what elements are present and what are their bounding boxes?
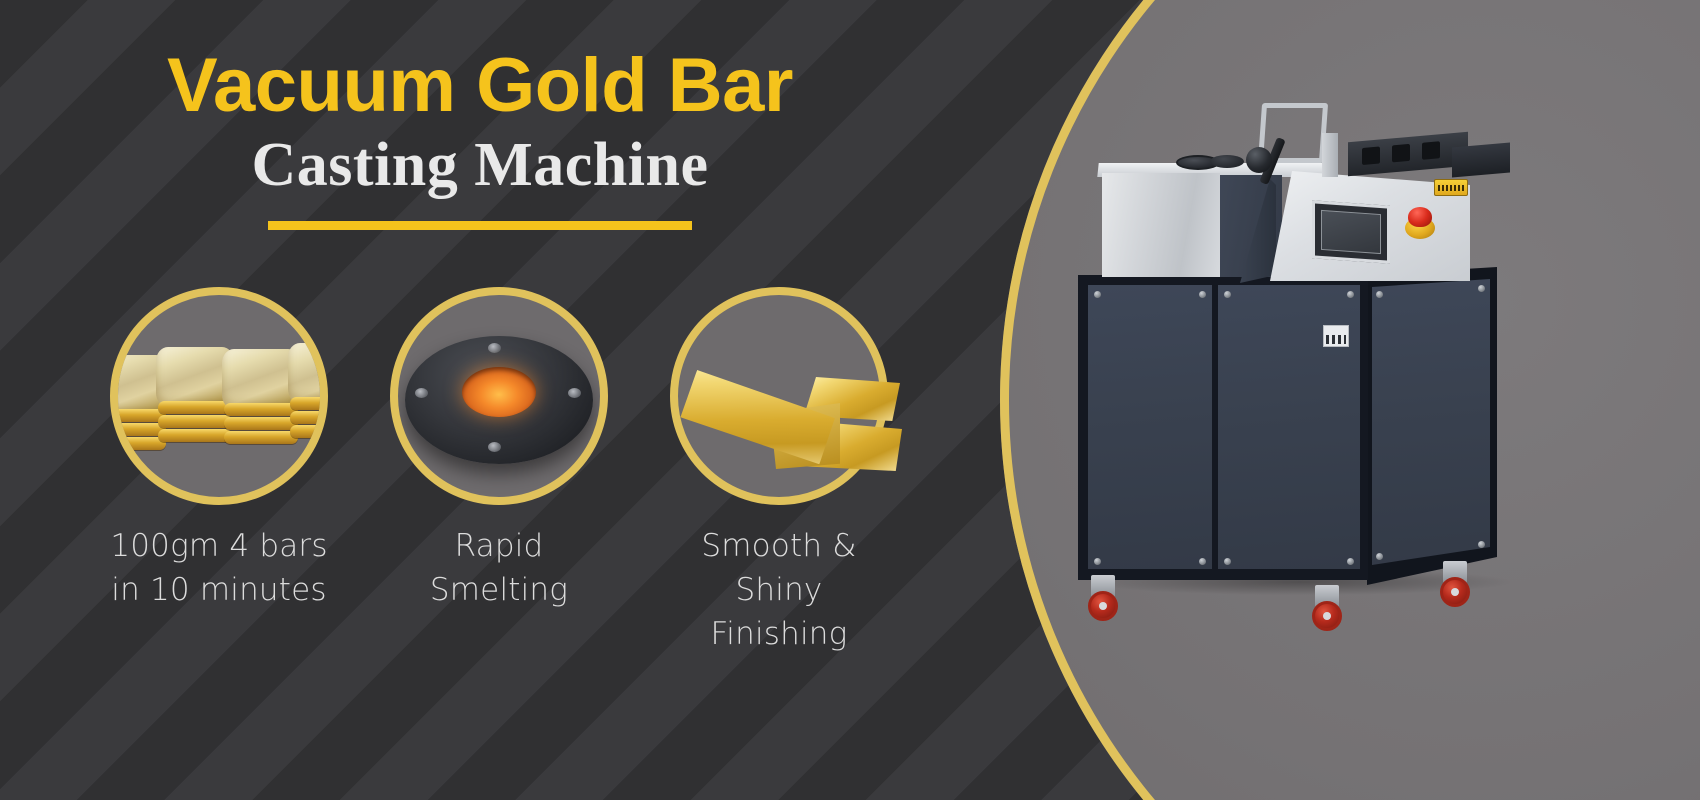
feature-icons-row xyxy=(95,287,935,505)
panel-screw xyxy=(1224,558,1231,565)
vacuum-gold-bar-casting-machine-photo xyxy=(1060,95,1550,665)
feature-caption-3: Smooth & Shiny Finishing xyxy=(655,524,903,656)
crucible-molten-metal-icon xyxy=(405,336,593,464)
hmi-touchscreen[interactable] xyxy=(1312,200,1390,263)
panel-screw xyxy=(1478,541,1485,548)
feature-item xyxy=(95,287,343,505)
panel-screw xyxy=(1224,291,1231,298)
panel-screw xyxy=(1199,291,1206,298)
mold-block xyxy=(1348,132,1468,176)
cabinet-door-left xyxy=(1088,285,1212,569)
page-subtitle: Casting Machine xyxy=(0,131,960,199)
feature-caption-1: 100gm 4 bars in 10 minutes xyxy=(95,524,343,656)
panel-screw xyxy=(1094,291,1101,298)
panel-screw xyxy=(1478,285,1485,292)
feature-item xyxy=(375,287,623,505)
warning-label xyxy=(1434,179,1468,196)
cabinet-side-panel xyxy=(1372,279,1490,565)
feature-caption-2: Rapid Smelting xyxy=(375,524,623,656)
emergency-stop-button[interactable] xyxy=(1408,207,1432,227)
caster-front-left xyxy=(1088,575,1118,621)
headline-block: Vacuum Gold Bar Casting Machine xyxy=(0,46,960,230)
feature-circle-2 xyxy=(390,287,608,505)
vacuum-chamber-lever[interactable] xyxy=(1246,147,1272,173)
molten-gold-pool xyxy=(462,367,536,417)
title-underline-rule xyxy=(268,221,692,230)
stainless-chamber xyxy=(1102,173,1220,277)
panel-screw xyxy=(1376,553,1383,560)
page-title: Vacuum Gold Bar xyxy=(0,46,960,127)
feature-item xyxy=(655,287,903,505)
gold-ingots-icon xyxy=(686,329,916,489)
vacuum-port-ring-2 xyxy=(1210,155,1244,168)
gold-cast-bars-icon xyxy=(118,347,320,459)
circuit-breaker-switch[interactable] xyxy=(1323,325,1349,347)
caster-rear-right xyxy=(1440,561,1470,607)
panel-screw xyxy=(1347,558,1354,565)
panel-screw xyxy=(1347,291,1354,298)
frame-post xyxy=(1322,133,1338,177)
feature-captions-row: 100gm 4 bars in 10 minutes Rapid Smeltin… xyxy=(95,524,935,656)
hmi-screen-surface[interactable] xyxy=(1321,210,1381,254)
mold-block-secondary xyxy=(1452,142,1510,177)
panel-screw xyxy=(1094,558,1101,565)
feature-circle-1 xyxy=(110,287,328,505)
caster-front-right xyxy=(1312,585,1342,631)
feature-circle-3 xyxy=(670,287,888,505)
promo-banner: Vacuum Gold Bar Casting Machine xyxy=(0,0,1700,800)
panel-screw xyxy=(1199,558,1206,565)
panel-screw xyxy=(1376,291,1383,298)
